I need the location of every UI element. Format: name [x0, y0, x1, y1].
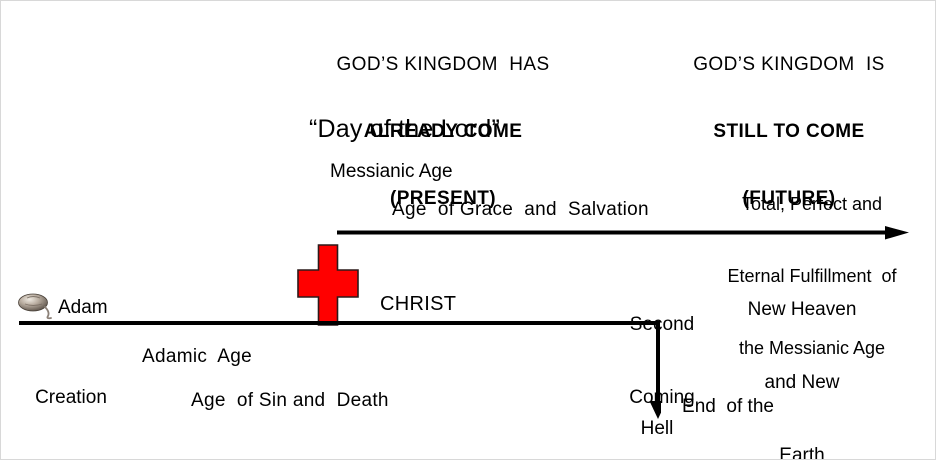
new-heaven-line1: New Heaven [723, 298, 881, 322]
adam-label: Adam [58, 297, 108, 319]
age-of-sin-and-death-label: Age of Sin and Death [191, 390, 389, 412]
hell-label: Hell [627, 418, 687, 440]
adam-seed-icon [17, 292, 61, 320]
new-heaven-new-earth-label: New Heaven and New Earth [723, 249, 881, 460]
messianic-age-label: Messianic Age [330, 161, 453, 183]
age-of-grace-label: Age of Grace and Salvation [392, 199, 649, 221]
header-future-line2: STILL TO COME [641, 121, 936, 143]
christ-label: CHRIST [380, 293, 456, 317]
creation-and-fall-line1: Creation [17, 386, 125, 410]
creation-and-fall-label: Creation and Fall [17, 337, 125, 460]
upper-timeline-arrow [337, 226, 909, 240]
adamic-age-label: Adamic Age [142, 346, 252, 368]
red-cross-icon [297, 244, 359, 326]
new-heaven-line3: Earth [723, 444, 881, 460]
second-coming-line1: Second [618, 313, 706, 337]
header-present-line1: GOD’S KINGDOM HAS [293, 54, 593, 76]
new-heaven-line2: and New [723, 371, 881, 395]
day-of-the-lord-title: “Day of the Lord” [309, 115, 500, 145]
header-future-line1: GOD’S KINGDOM IS [641, 54, 936, 76]
fulfillment-line1: Total, Perfect and [697, 193, 927, 217]
diagram-canvas: GOD’S KINGDOM HAS ALREADY COME (PRESENT)… [0, 0, 936, 460]
